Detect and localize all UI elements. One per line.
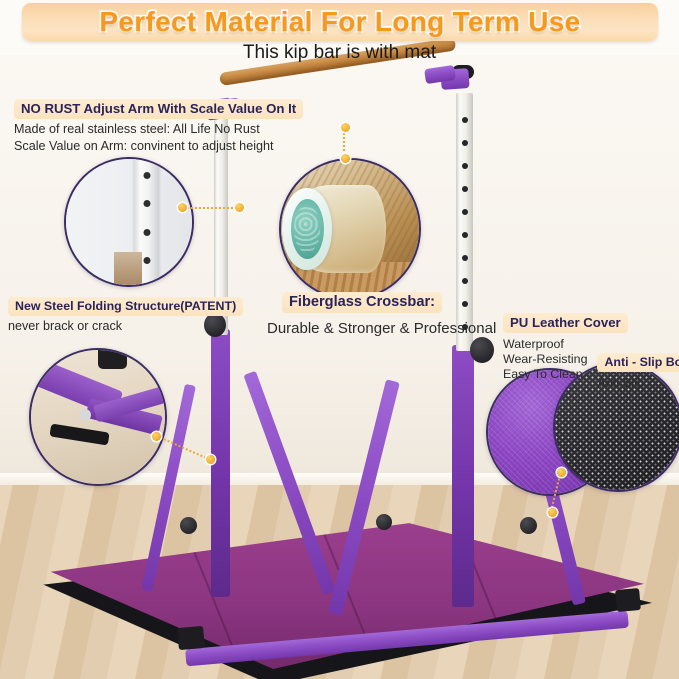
base-rail-right-cap: [615, 588, 641, 612]
infographic-canvas: Perfect Material For Long Term Use This …: [0, 0, 679, 679]
callout-pu-lines: Waterproof Wear-Resisting Easy To Clean: [503, 337, 587, 390]
callout-crossbar: Fiberglass Crossbar: Durable & Stronger …: [267, 292, 457, 337]
callout-folding-structure: New Steel Folding Structure(PATENT) neve…: [8, 297, 243, 333]
connector-adjust-arm: [178, 203, 244, 213]
callout-pu-heading: PU Leather Cover: [503, 313, 628, 333]
right-lower-post: [452, 345, 474, 607]
callout-adjust-arm-heading: NO RUST Adjust Arm With Scale Value On I…: [14, 99, 303, 119]
callout-crossbar-line1: Durable & Stronger & Professional: [267, 320, 457, 337]
connector-anti-slip: [557, 468, 591, 516]
callout-anti-slip: Anti - Slip Bottom Anti-Slip: [597, 337, 679, 390]
callout-pu-line1: Waterproof: [503, 337, 587, 352]
callout-anti-slip-line1: Anti-Slip: [597, 376, 679, 390]
inset-adjust-arm-photo: [64, 157, 194, 287]
title-banner: Perfect Material For Long Term Use: [22, 3, 658, 41]
callout-pu-leather: PU Leather Cover Waterproof Wear-Resisti…: [503, 313, 679, 390]
callout-adjust-arm-line2: Scale Value on Arm: convinent to adjust …: [14, 139, 303, 153]
callout-folding-heading: New Steel Folding Structure(PATENT): [8, 297, 243, 316]
page-subtitle: This kip bar is with mat: [0, 42, 679, 64]
right-height-knob: [470, 337, 494, 363]
base-rail-left-cap: [177, 626, 205, 650]
callout-anti-slip-heading: Anti - Slip Bottom: [597, 353, 679, 372]
inset-crossbar-photo: [279, 158, 421, 300]
right-adjust-arm: [456, 93, 473, 351]
callout-adjust-arm: NO RUST Adjust Arm With Scale Value On I…: [14, 99, 303, 153]
center-brace-knob: [376, 514, 392, 530]
callout-pu-line3: Easy To Clean: [503, 367, 587, 382]
page-title: Perfect Material For Long Term Use: [99, 6, 580, 38]
connector-folding: [152, 432, 218, 466]
callout-adjust-arm-line1: Made of real stainless steel: All Life N…: [14, 122, 303, 136]
inset-folding-structure-photo: [29, 348, 167, 486]
callout-folding-line1: never brack or crack: [8, 319, 243, 333]
callout-pu-line2: Wear-Resisting: [503, 352, 587, 367]
left-brace-knob: [180, 517, 197, 534]
callout-crossbar-heading: Fiberglass Crossbar:: [282, 292, 442, 313]
right-brace-knob: [520, 517, 537, 534]
connector-crossbar: [341, 123, 353, 163]
